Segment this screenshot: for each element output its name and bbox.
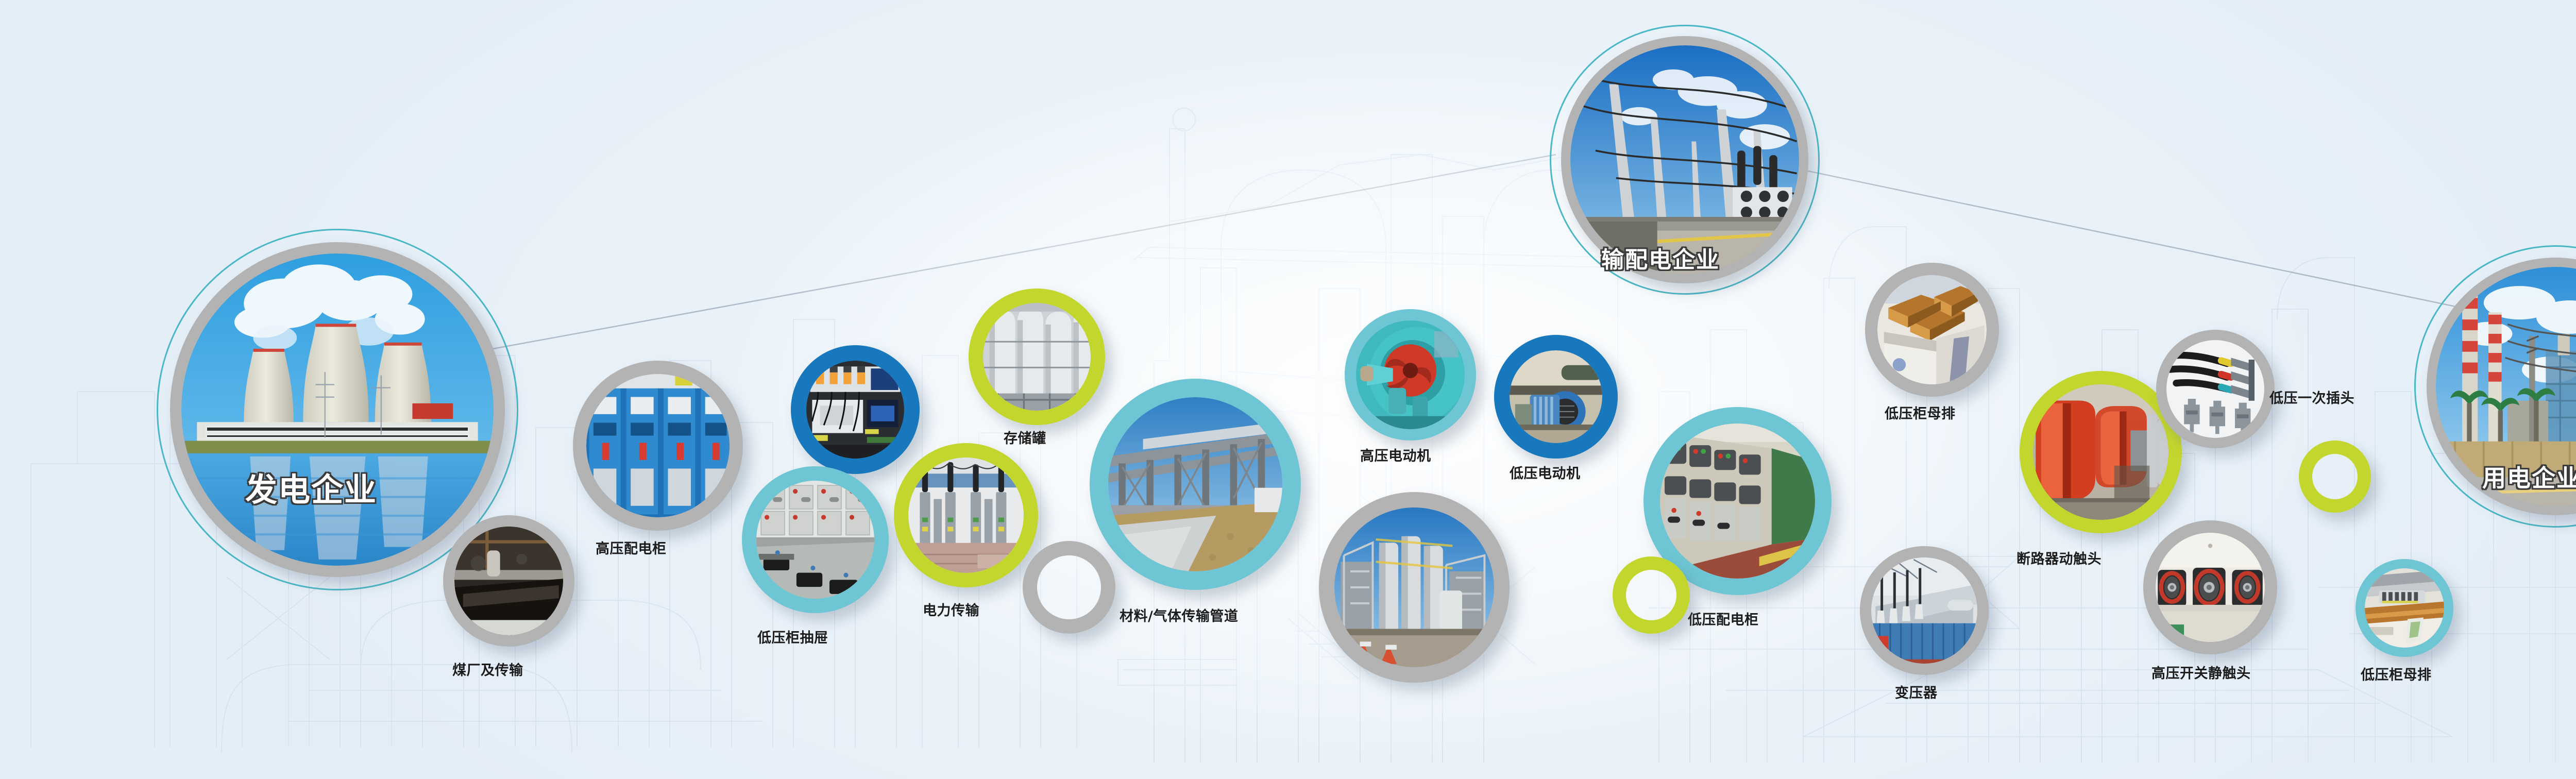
ring-coal-plant-transport[interactable] <box>443 515 574 647</box>
ring-electrical-contacts[interactable] <box>791 345 920 474</box>
caption-lv-cabinet-busbar-top: 低压柜母排 <box>1885 407 1956 421</box>
hollow-ring-lime-right <box>2299 441 2371 513</box>
caption-storage-tank: 存储罐 <box>1004 432 1046 446</box>
photo-power-transmission <box>908 458 1024 573</box>
photo-power-generation <box>181 253 494 566</box>
caption-lv-cabinet-busbar-right: 低压柜母排 <box>2361 668 2432 682</box>
hollow-ring-lime-mid <box>1613 556 1690 634</box>
caption-lv-cabinet-drawer: 低压柜抽屉 <box>757 631 828 645</box>
ring-power-generation[interactable] <box>170 242 505 577</box>
photo-lv-cabinet-busbar-right <box>2365 568 2444 648</box>
photo-transmission-distribution <box>1570 45 1799 274</box>
hollow-ring-gray-left <box>1023 541 1115 634</box>
caption-material-gas-pipeline: 材料/气体传输管道 <box>1120 609 1238 623</box>
photo-storage-tank <box>983 303 1091 411</box>
ring-lv-cabinet-busbar-top[interactable] <box>1865 263 1999 397</box>
photo-hv-switch-static-contact <box>2156 533 2265 642</box>
ring-hv-motor[interactable] <box>1345 309 1476 441</box>
photo-lv-primary-plug <box>2166 340 2264 438</box>
photo-material-gas-pipeline <box>1108 397 1282 571</box>
ring-material-gas-pipeline[interactable] <box>1090 379 1301 590</box>
photo-breaker-moving-contact <box>2033 384 2168 520</box>
caption-power-transmission: 电力传输 <box>923 604 979 618</box>
caption-lv-motor: 低压电动机 <box>1510 467 1581 481</box>
photo-lv-motor <box>1510 350 1602 443</box>
ring-lv-primary-plug[interactable] <box>2156 330 2275 448</box>
photo-hv-motor <box>1356 320 1465 429</box>
caption-lv-primary-plug: 低压一次插头 <box>2269 392 2354 405</box>
hero-label-power-consumer: 用电企业 <box>2482 460 2576 494</box>
photo-transformer <box>1871 557 1977 664</box>
photo-hv-distribution-cabinet <box>586 374 730 517</box>
caption-coal-plant-transport: 煤厂及传输 <box>452 664 523 678</box>
ring-storage-tank[interactable] <box>969 289 1105 425</box>
photo-lv-cabinet-busbar-top <box>1877 275 1987 384</box>
ring-lv-motor[interactable] <box>1494 335 1618 459</box>
ring-lv-cabinet-drawer[interactable] <box>742 466 889 613</box>
photo-process-plant <box>1334 507 1494 667</box>
caption-breaker-moving-contact: 断路器动触头 <box>2016 552 2102 566</box>
ring-hv-distribution-cabinet[interactable] <box>573 361 743 531</box>
hero-label-transmission-distribution: 输配电企业 <box>1601 241 1720 274</box>
photo-lv-cabinet-drawer <box>756 481 874 599</box>
ring-hv-switch-static-contact[interactable] <box>2143 520 2277 654</box>
photo-electrical-contacts <box>806 361 904 459</box>
ring-lv-cabinet-busbar-right[interactable] <box>2355 559 2453 657</box>
ring-transformer[interactable] <box>1860 546 1989 675</box>
infographic-canvas: 发电企业 <box>0 0 2576 779</box>
caption-hv-switch-static-contact: 高压开关静触头 <box>2151 667 2251 681</box>
photo-lv-distribution-cabinet <box>1660 424 1815 579</box>
ring-power-transmission[interactable] <box>894 443 1038 587</box>
ring-process-plant[interactable] <box>1319 492 1510 683</box>
caption-lv-distribution-cabinet: 低压配电柜 <box>1688 613 1759 627</box>
caption-hv-motor: 高压电动机 <box>1360 449 1431 463</box>
photo-coal-plant-transport <box>454 527 563 635</box>
caption-transformer: 变压器 <box>1895 686 1938 700</box>
caption-hv-distribution-cabinet: 高压配电柜 <box>596 542 667 556</box>
hero-label-power-generation: 发电企业 <box>245 464 377 510</box>
